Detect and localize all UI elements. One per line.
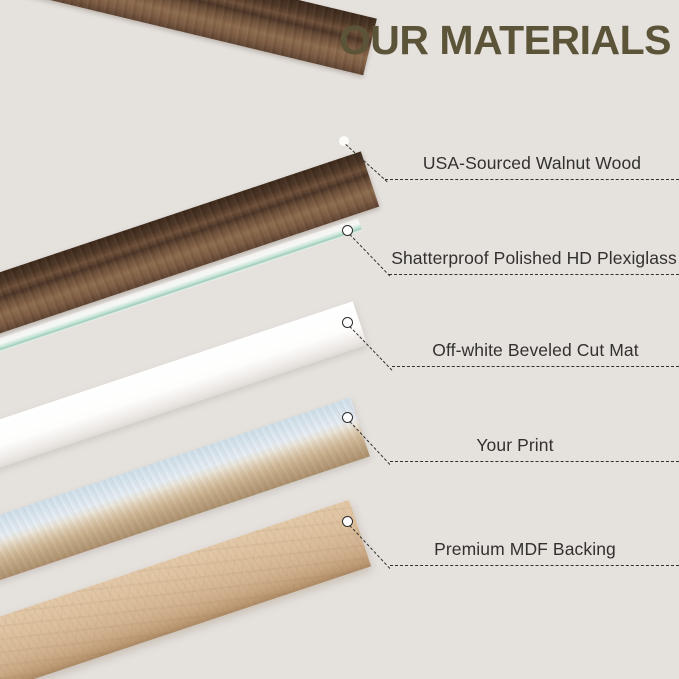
label-mat-board: Off-white Beveled Cut Mat [392,342,679,360]
rule-mat-board [392,366,679,367]
label-walnut-wood: USA-Sourced Walnut Wood [385,155,679,173]
rule-mdf-backing [390,565,679,566]
page-title: OUR MATERIALS [339,20,671,61]
infographic-canvas: USA-Sourced Walnut Wood Shatterproof Pol… [0,0,679,679]
rule-plexiglass [389,274,679,275]
label-plexiglass: Shatterproof Polished HD Plexiglass [389,250,679,268]
frame-inner-lip-top [0,0,377,36]
frame-bar-top [0,0,377,75]
label-your-print: Your Print [390,437,640,455]
rule-your-print [390,461,679,462]
rule-walnut-wood [385,179,679,180]
label-mdf-backing: Premium MDF Backing [390,541,660,559]
product-photo [0,0,400,679]
